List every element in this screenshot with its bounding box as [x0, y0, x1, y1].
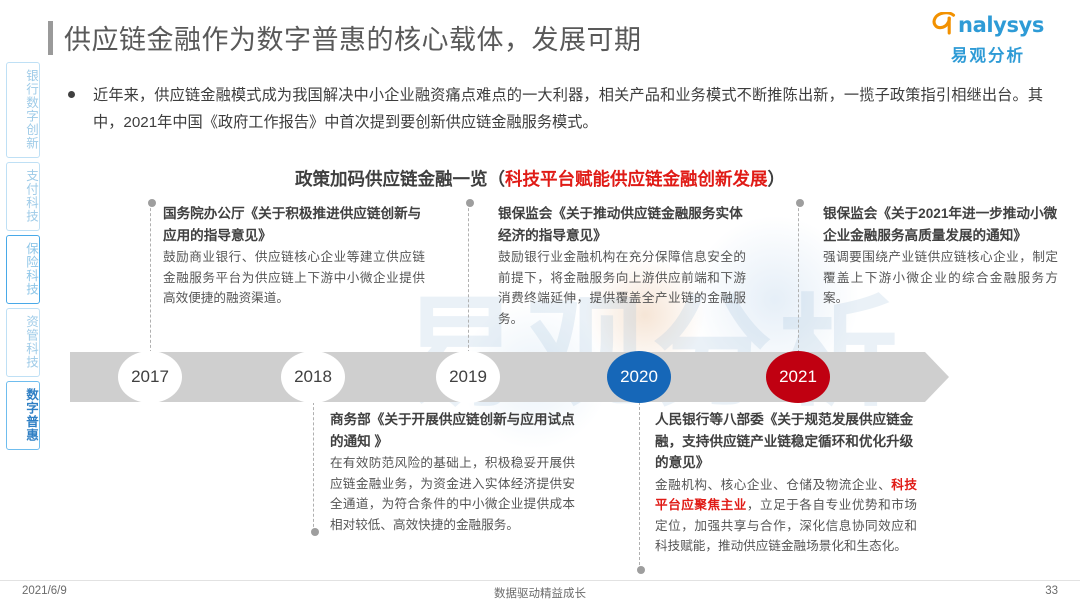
policy-card-title: 国务院办公厅《关于积极推进供应链创新与应用的指导意见》 [163, 203, 425, 246]
timeline-node-label: 2020 [620, 367, 658, 387]
sidebar-item-digital-inclusive-finance[interactable]: 数字普惠 [6, 381, 40, 450]
sidebar-item-label: 资管科技 [24, 315, 38, 369]
figure-heading-main: 政策加码供应链金融一览 [295, 169, 488, 189]
connector-dot-icon [311, 528, 319, 536]
connector-2018 [313, 402, 314, 532]
policy-card-2017: 国务院办公厅《关于积极推进供应链创新与应用的指导意见》 鼓励商业银行、供应链核心… [163, 203, 425, 309]
footer: 2021/6/9 数据驱动精益成长 33 [0, 580, 1080, 598]
bullet-dot-icon [68, 91, 75, 98]
connector-dot-icon [466, 199, 474, 207]
sidebar-item-bank-digital-innovation[interactable]: 银行数字创新 [6, 62, 40, 158]
timeline-node-2017[interactable]: 2017 [118, 351, 182, 403]
policy-card-title: 人民银行等八部委《关于规范发展供应链金融，支持供应链产业链稳定循环和优化升级的意… [655, 409, 917, 474]
policy-card-2021: 银保监会《关于2021年进一步推动小微企业金融服务高质量发展的通知》 强调要围绕… [823, 203, 1058, 309]
sidebar-item-payment-tech[interactable]: 支付科技 [6, 162, 40, 231]
page-title: 供应链金融作为数字普惠的核心载体，发展可期 [48, 18, 642, 57]
policy-card-body: 在有效防范风险的基础上，积极稳妥开展供应链金融业务，为资金进入实体经济提供安全通… [330, 453, 575, 535]
policy-card-title: 商务部《关于开展供应链创新与应用试点的通知 》 [330, 409, 575, 452]
figure-heading-highlight: 科技平台赋能供应链金融创新发展 [505, 169, 768, 189]
policy-card-body: 金融机构、核心企业、仓储及物流企业、科技平台应聚焦主业，立足于各自专业优势和市场… [655, 475, 917, 557]
sidebar: 银行数字创新 支付科技 保险科技 资管科技 数字普惠 [6, 62, 40, 454]
logo-chinese-name: 易观分析 [922, 42, 1054, 66]
figure-heading-paren-left: （ [488, 169, 506, 189]
policy-card-body-part1: 金融机构、核心企业、仓储及物流企业、 [655, 478, 891, 492]
title-accent-bar [48, 21, 53, 55]
footer-page-number: 33 [1045, 585, 1058, 597]
policy-card-2019: 银保监会《关于推动供应链金融服务实体经济的指导意见》 鼓励银行业金融机构在充分保… [498, 203, 746, 329]
timeline-node-label: 2021 [779, 367, 817, 387]
timeline-node-2018[interactable]: 2018 [281, 351, 345, 403]
sidebar-item-label: 支付科技 [24, 169, 38, 223]
connector-2019 [468, 203, 469, 353]
sidebar-item-label: 数字普惠 [24, 388, 38, 442]
timeline-node-label: 2017 [131, 367, 169, 387]
timeline-node-label: 2019 [449, 367, 487, 387]
connector-2020 [639, 402, 640, 570]
sidebar-item-asset-management-tech[interactable]: 资管科技 [6, 308, 40, 377]
connector-dot-icon [148, 199, 156, 207]
policy-card-title: 银保监会《关于推动供应链金融服务实体经济的指导意见》 [498, 203, 746, 246]
intro-bullet-text: 近年来，供应链金融模式成为我国解决中小企业融资痛点难点的一大利器，相关产品和业务… [93, 82, 1043, 136]
policy-card-body: 鼓励商业银行、供应链核心企业等建立供应链金融服务平台为供应链上下游中小微企业提供… [163, 247, 425, 309]
title-text: 供应链金融作为数字普惠的核心载体，发展可期 [64, 18, 642, 57]
timeline-node-2021[interactable]: 2021 [766, 351, 830, 403]
timeline-node-label: 2018 [294, 367, 332, 387]
footer-slogan: 数据驱动精益成长 [0, 585, 1080, 601]
intro-bullet: 近年来，供应链金融模式成为我国解决中小企业融资痛点难点的一大利器，相关产品和业务… [68, 82, 1043, 136]
policy-card-2020: 人民银行等八部委《关于规范发展供应链金融，支持供应链产业链稳定循环和优化升级的意… [655, 409, 917, 557]
figure-heading-paren-right: ） [768, 169, 786, 189]
slide-root: 易观分析 银行数字创新 支付科技 保险科技 资管科技 数字普惠 供应链金融作为数… [0, 0, 1080, 608]
sidebar-item-label: 保险科技 [24, 242, 38, 296]
brand-logo: nalysys 易观分析 [922, 12, 1054, 66]
timeline-node-2020[interactable]: 2020 [607, 351, 671, 403]
policy-card-2018: 商务部《关于开展供应链创新与应用试点的通知 》 在有效防范风险的基础上，积极稳妥… [330, 409, 575, 535]
policy-card-body: 鼓励银行业金融机构在充分保障信息安全的前提下，将金融服务向上游供应前端和下游消费… [498, 247, 746, 329]
timeline-arrow-head-icon [925, 352, 949, 402]
connector-dot-icon [637, 566, 645, 574]
sidebar-item-insurance-tech[interactable]: 保险科技 [6, 235, 40, 304]
policy-card-title: 银保监会《关于2021年进一步推动小微企业金融服务高质量发展的通知》 [823, 203, 1058, 246]
analysys-mark-icon [932, 12, 958, 39]
logo-wordmark: nalysys [958, 15, 1044, 36]
figure-heading: 政策加码供应链金融一览（科技平台赋能供应链金融创新发展） [0, 166, 1080, 191]
connector-2017 [150, 203, 151, 353]
connector-dot-icon [796, 199, 804, 207]
timeline-node-2019[interactable]: 2019 [436, 351, 500, 403]
sidebar-item-label: 银行数字创新 [24, 69, 38, 150]
connector-2021 [798, 203, 799, 353]
policy-card-body: 强调要围绕产业链供应链核心企业，制定覆盖上下游小微企业的综合金融服务方案。 [823, 247, 1058, 309]
